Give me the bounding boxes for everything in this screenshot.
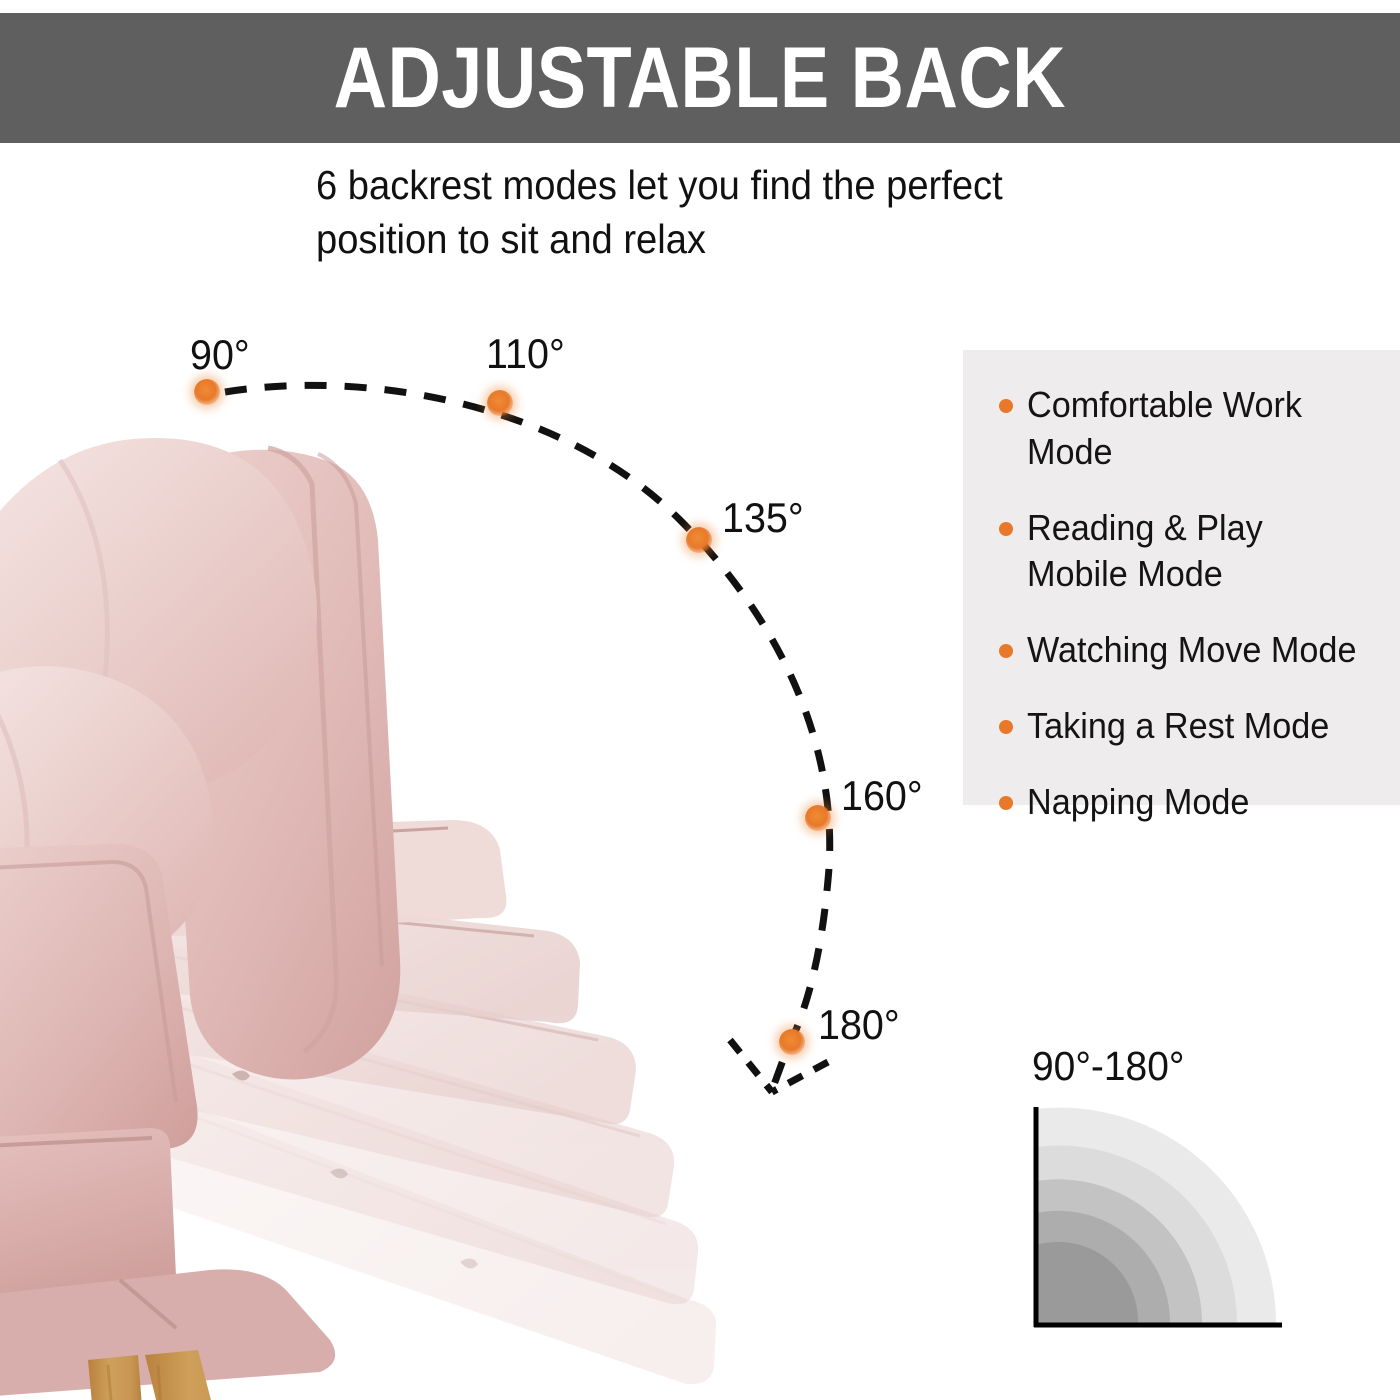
subtitle: 6 backrest modes let you find the perfec… — [316, 158, 1079, 266]
angle-label-160: 160° — [841, 775, 923, 817]
angle-label-90: 90° — [190, 334, 250, 376]
bullet-dot-icon — [999, 720, 1013, 734]
list-item[interactable]: Napping Mode — [999, 779, 1390, 826]
quarter-circle-diagram — [1030, 1103, 1292, 1343]
feature-label: Reading & Play Mobile Mode — [1027, 505, 1263, 599]
list-item[interactable]: Reading & Play Mobile Mode — [999, 505, 1390, 599]
list-item[interactable]: Comfortable Work Mode — [999, 382, 1390, 476]
angle-range-label: 90°-180° — [1032, 1046, 1184, 1087]
bullet-dot-icon — [999, 522, 1013, 536]
header-bar: ADJUSTABLE BACK — [0, 13, 1400, 143]
bullet-dot-icon — [999, 399, 1013, 413]
list-item[interactable]: Watching Move Mode — [999, 627, 1390, 674]
subtitle-line-1: 6 backrest modes let you find the perfec… — [316, 158, 1079, 212]
feature-label: Napping Mode — [1027, 779, 1249, 826]
subtitle-line-2: position to sit and relax — [316, 212, 1079, 266]
angle-range-widget: 90°-180° — [1012, 1046, 1302, 1346]
angle-dot-160 — [805, 805, 831, 831]
infographic-page: ADJUSTABLE BACK 6 backrest modes let you… — [0, 0, 1400, 1400]
bullet-dot-icon — [999, 644, 1013, 658]
feature-mode-panel: Comfortable Work Mode Reading & Play Mob… — [963, 350, 1400, 805]
angle-label-110: 110° — [486, 333, 565, 375]
feature-label: Taking a Rest Mode — [1027, 703, 1329, 750]
feature-label: Comfortable Work Mode — [1027, 382, 1372, 476]
list-item[interactable]: Taking a Rest Mode — [999, 703, 1390, 750]
feature-label: Watching Move Mode — [1027, 627, 1356, 674]
feature-mode-list: Comfortable Work Mode Reading & Play Mob… — [999, 382, 1390, 826]
bullet-dot-icon — [999, 796, 1013, 810]
product-photo-recliner-chair — [0, 400, 780, 1400]
angle-dot-180 — [779, 1029, 805, 1055]
page-title: ADJUSTABLE BACK — [334, 35, 1066, 121]
angle-label-180: 180° — [818, 1004, 900, 1046]
